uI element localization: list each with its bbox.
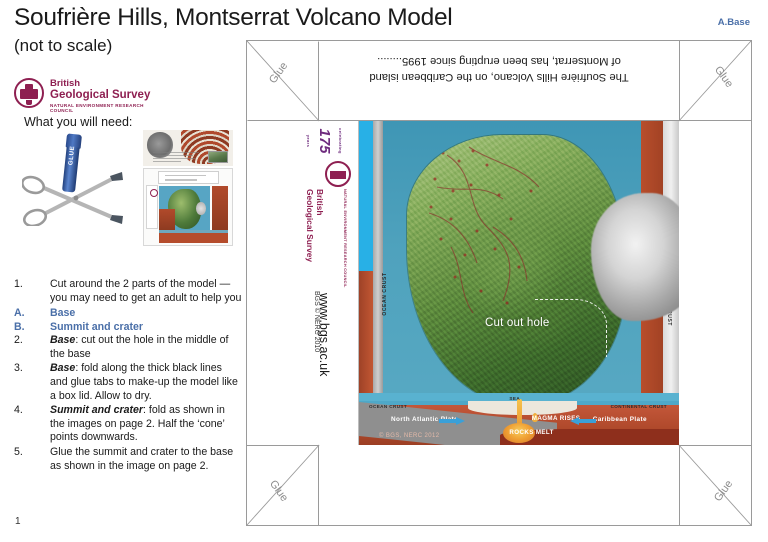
rocks-melt-label: ROCKS MELT	[509, 429, 553, 436]
xsec-ocean-crust-label: OCEAN CRUST	[369, 404, 407, 409]
map-copyright: © BGS, NERC 2012	[379, 433, 440, 439]
crust-wedge	[468, 401, 577, 415]
ocean-crust-label: OCEAN CRUST	[382, 249, 388, 339]
fold-line-bottom-right	[677, 443, 751, 525]
preview-page-1	[143, 168, 233, 246]
page-subtitle: (not to scale)	[14, 36, 112, 56]
instruction-step-3: 3. Base: fold along the thick black line…	[14, 362, 242, 403]
fold-line-bottom-left	[247, 443, 321, 525]
arrow-left-icon	[570, 417, 596, 425]
sub-letter: B.	[14, 320, 50, 334]
step-text: Cut around the 2 parts of the model — yo…	[50, 278, 242, 305]
xsec-sea-label: SEA	[509, 396, 520, 401]
instruction-step-4: 4. Summit and crater: fold as shown in t…	[14, 404, 242, 445]
supplies-illustration: GLUE	[22, 132, 142, 232]
step-number: 5.	[14, 446, 50, 473]
anniversary-number: 175	[316, 128, 333, 153]
bgs-logo: British Geological Survey NATURAL ENVIRO…	[14, 78, 164, 110]
arrow-right-icon	[439, 417, 465, 425]
bgs-name-line1: British	[50, 78, 164, 89]
supplies-heading: What you will need:	[24, 115, 132, 129]
step-number: 4.	[14, 404, 50, 445]
scissors-icon	[22, 168, 126, 226]
bgs-nerc-line: NATURAL ENVIRONMENT RESEARCH COUNCIL	[50, 103, 164, 113]
anniversary-top-text: celebrating	[332, 120, 348, 162]
fold-line-top-right	[677, 41, 751, 123]
step-number: 3.	[14, 362, 50, 403]
page-number: 1	[15, 516, 21, 527]
sub-label: Base	[50, 306, 75, 320]
instruction-sub-a: A. Base	[14, 306, 242, 320]
bgs-side-nerc: NATURAL ENVIRONMENT RESEARCH COUNCIL	[343, 189, 347, 299]
bgs-side-name: British Geological Survey	[305, 189, 324, 279]
step-emphasis: Base	[50, 334, 75, 346]
instruction-step-5: 5. Glue the summit and crater to the bas…	[14, 446, 242, 473]
sub-label: Summit and crater	[50, 320, 143, 334]
instructions-list: 1. Cut around the 2 parts of the model —…	[14, 278, 242, 474]
instruction-step-2: 2. Base: cut out the hole in the middle …	[14, 334, 242, 361]
model-caption: The Soufrière Hills Volcano, on the Cari…	[319, 53, 679, 85]
step-text: : fold along the thick black lines and g…	[50, 362, 238, 401]
fold-line-top-left	[247, 41, 321, 123]
page-title: Soufrière Hills, Montserrat Volcano Mode…	[14, 4, 452, 32]
cut-out-hole-label: Cut out hole	[485, 317, 549, 329]
caption-band: The Soufrière Hills Volcano, on the Cari…	[319, 41, 679, 121]
sub-letter: A.	[14, 306, 50, 320]
instruction-sub-b: B. Summit and crater	[14, 320, 242, 334]
step-number: 1.	[14, 278, 50, 305]
step-text: : cut out the hole in the middle of the …	[50, 334, 228, 360]
anniversary-175-logo: celebrating 175 years	[320, 120, 348, 162]
document-page: Soufrière Hills, Montserrat Volcano Mode…	[0, 0, 768, 542]
bgs-side-strip: celebrating 175 years British Geological…	[319, 121, 359, 445]
instruction-step-1: 1. Cut around the 2 parts of the model —…	[14, 278, 242, 305]
bgs-roundel-icon	[14, 78, 44, 108]
part-label-base: A.Base	[718, 17, 750, 28]
model-cutout-panel: Glue Glue Glue Glue The Soufrière Hills …	[246, 40, 752, 526]
bgs-roundel-icon	[325, 161, 351, 187]
anniversary-bottom-text: years	[300, 120, 316, 162]
bgs-side-copyright: BGS © NERC 2010	[313, 291, 320, 411]
montserrat-map: OCEAN CRUST CONTINENTAL CRUST	[359, 121, 679, 445]
xsec-continental-crust-label: CONTINENTAL CRUST	[611, 404, 667, 409]
step-emphasis: Summit and crater	[50, 404, 143, 416]
ash-plume	[591, 193, 679, 321]
step-number: 2.	[14, 334, 50, 361]
printed-pages-preview	[142, 130, 234, 248]
step-emphasis: Base	[50, 362, 75, 374]
step-text: Glue the summit and crater to the base a…	[50, 446, 242, 473]
bgs-name-line2: Geological Survey	[50, 89, 164, 101]
caribbean-plate-label: Caribbean Plate	[593, 416, 647, 423]
preview-page-2	[143, 130, 233, 166]
